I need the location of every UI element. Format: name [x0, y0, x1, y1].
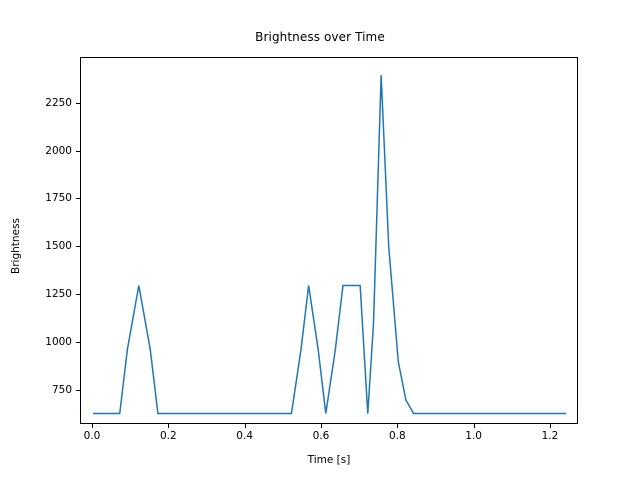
- x-axis-label: Time [s]: [80, 454, 578, 466]
- x-tick-label: 1.2: [520, 430, 580, 442]
- y-tick-label: 1250: [26, 288, 72, 300]
- x-tick-label: 0.6: [291, 430, 351, 442]
- y-tick-label: 1500: [26, 240, 72, 252]
- y-tick-label: 1750: [26, 192, 72, 204]
- brightness-line: [93, 75, 566, 413]
- chart-title: Brightness over Time: [0, 30, 640, 44]
- x-tick-label: 1.0: [444, 430, 504, 442]
- x-tick-label: 0.8: [367, 430, 427, 442]
- x-tick-label: 0.0: [62, 430, 122, 442]
- y-tick-label: 2000: [26, 145, 72, 157]
- x-tick-label: 0.4: [215, 430, 275, 442]
- chart-figure: Brightness over Time 7501000125015001750…: [0, 0, 640, 480]
- y-axis-label: Brightness: [10, 146, 22, 346]
- y-tick-label: 2250: [26, 97, 72, 109]
- y-tick-label: 1000: [26, 336, 72, 348]
- plot-area: [80, 57, 578, 424]
- y-tick-label: 750: [26, 384, 72, 396]
- data-line-svg: [81, 58, 579, 425]
- x-tick-label: 0.2: [138, 430, 198, 442]
